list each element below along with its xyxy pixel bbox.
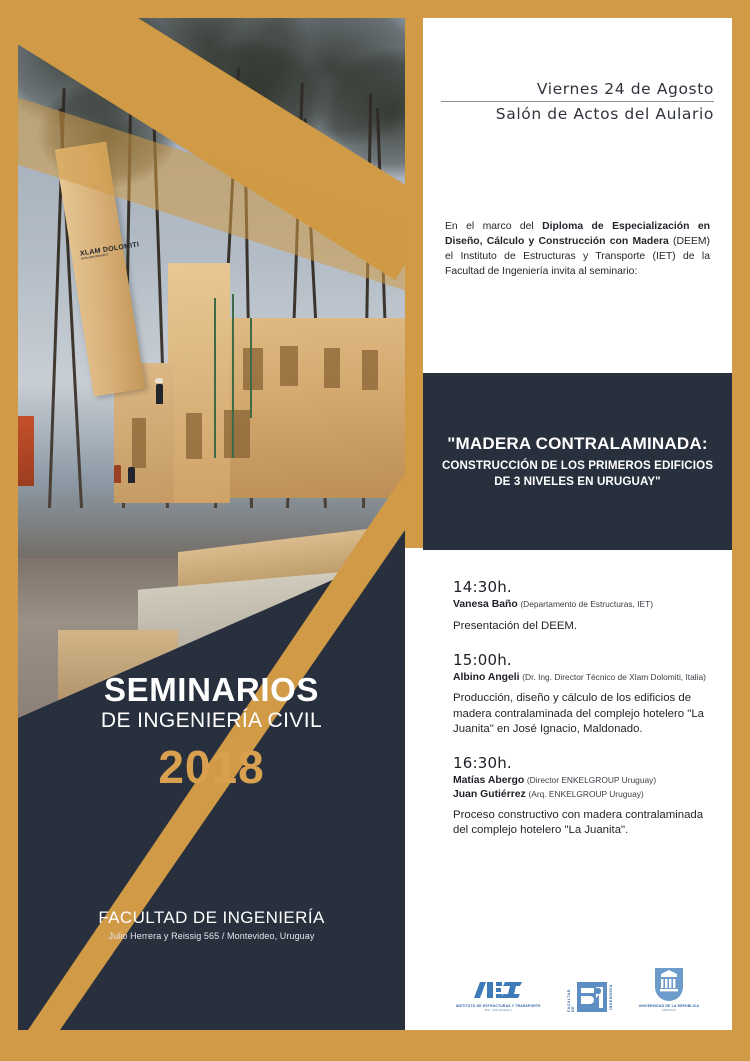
seminar-title-band: "MADERA CONTRALAMINADA: CONSTRUCCIÓN DE …	[423, 373, 732, 550]
speaker-name: Albino Angeli	[453, 672, 520, 683]
udelar-logo: UNIVERSIDAD DE LA REPÚBLICA URUGUAY	[639, 966, 699, 1012]
agenda-item: 15:00h. Albino Angeli (Dr. Ing. Director…	[453, 651, 706, 737]
faculty-name: FACULTAD DE INGENIERÍA	[18, 908, 405, 928]
wall-opening	[132, 418, 146, 468]
speaker-name: Juan Gutiérrez	[453, 789, 526, 800]
brand-year: 2018	[18, 744, 405, 790]
agenda-speaker: Vanesa Baño (Departamento de Estructuras…	[453, 598, 706, 612]
agenda-time: 16:30h.	[453, 754, 706, 772]
wall-opening	[362, 350, 378, 390]
fi-glyph-icon	[577, 982, 607, 1012]
agenda-time: 15:00h.	[453, 651, 706, 669]
speaker-name: Matías Abergo	[453, 775, 524, 786]
iet-logo: INSTITUTO DE ESTRUCTURAS Y TRANSPORTE Pr…	[456, 978, 541, 1012]
gold-vertical-strip	[405, 18, 423, 548]
agenda-speaker: Matías Abergo (Director ENKELGROUP Urugu…	[453, 774, 706, 788]
orange-equipment	[18, 416, 34, 486]
agenda-description: Presentación del DEEM.	[453, 619, 706, 634]
agenda-item: 16:30h. Matías Abergo (Director ENKELGRO…	[453, 754, 706, 839]
udelar-shield-icon	[653, 966, 685, 1002]
seminar-title-line1: "MADERA CONTRALAMINADA:	[437, 434, 718, 454]
agenda-description: Producción, diseño y cálculo de los edif…	[453, 691, 706, 737]
speaker-name: Vanesa Baño	[453, 599, 518, 610]
faculty-footer: FACULTAD DE INGENIERÍA Julio Herrera y R…	[18, 908, 405, 941]
left-column: XLAM DOLOMITI www.xlamdolomiti.it	[18, 18, 405, 1030]
wall-opening	[280, 346, 298, 386]
wall-opening	[243, 348, 263, 390]
seminar-title-line2: CONSTRUCCIÓN DE LOS PRIMEROS EDIFICIOS D…	[437, 458, 718, 489]
event-date-block: Viernes 24 de Agosto Salón de Actos del …	[423, 18, 732, 123]
worker-figure	[114, 465, 121, 483]
scaffold-pole	[232, 294, 234, 458]
institution-logos: INSTITUTO DE ESTRUCTURAS Y TRANSPORTE Pr…	[423, 966, 732, 1012]
speaker-role: (Dr. Ing. Director Técnico de Xlam Dolom…	[522, 672, 706, 682]
agenda-speaker: Albino Angeli (Dr. Ing. Director Técnico…	[453, 671, 706, 685]
iet-caption-sub: Prof. Julio Ricaldoni	[485, 1009, 512, 1012]
wall-opening	[224, 410, 250, 458]
right-column: Viernes 24 de Agosto Salón de Actos del …	[405, 18, 732, 1030]
wall-opening	[324, 348, 340, 388]
fi-vertical-text-1: FACULTAD DE	[567, 982, 575, 1012]
worker-figure	[128, 467, 135, 483]
brand-title-sub: DE INGENIERÍA CIVIL	[18, 708, 405, 734]
poster-canvas: XLAM DOLOMITI www.xlamdolomiti.it	[18, 18, 732, 1030]
worker-figure	[156, 384, 163, 404]
event-venue: Salón de Actos del Aulario	[423, 105, 714, 123]
event-date: Viernes 24 de Agosto	[423, 80, 714, 98]
speaker-role: (Departamento de Estructuras, IET)	[520, 599, 653, 609]
agenda-speaker: Juan Gutiérrez (Arq. ENKELGROUP Uruguay)	[453, 788, 706, 802]
scaffold-pole	[250, 318, 252, 418]
worker-helmet	[155, 378, 163, 383]
fi-vertical-text-2: INGENIERÍA	[609, 984, 613, 1010]
iet-caption: INSTITUTO DE ESTRUCTURAS Y TRANSPORTE	[456, 1004, 541, 1008]
iet-mark-icon	[470, 978, 526, 1002]
intro-part1: En el marco del	[445, 221, 542, 232]
construction-photo: XLAM DOLOMITI www.xlamdolomiti.it	[18, 18, 405, 718]
clt-core-wall	[168, 263, 230, 503]
udelar-caption: UNIVERSIDAD DE LA REPÚBLICA	[639, 1004, 699, 1008]
seminar-brand-title: SEMINARIOS DE INGENIERÍA CIVIL 2018	[18, 673, 405, 790]
agenda-description: Proceso constructivo con madera contrala…	[453, 808, 706, 839]
photo-backdrop: XLAM DOLOMITI www.xlamdolomiti.it	[18, 18, 405, 718]
brand-title-main: SEMINARIOS	[18, 673, 405, 706]
wall-opening	[186, 413, 202, 459]
speaker-role: (Arq. ENKELGROUP Uruguay)	[528, 789, 643, 799]
fi-mark-icon	[577, 982, 607, 1012]
agenda-list: 14:30h. Vanesa Baño (Departamento de Est…	[423, 578, 732, 856]
udelar-caption-sub: URUGUAY	[662, 1009, 676, 1012]
agenda-time: 14:30h.	[453, 578, 706, 596]
faculty-address: Julio Herrera y Reissig 565 / Montevideo…	[18, 931, 405, 941]
intro-paragraph: En el marco del Diploma de Especializaci…	[445, 219, 710, 279]
date-divider	[441, 101, 714, 102]
scaffold-pole	[214, 298, 216, 458]
agenda-item: 14:30h. Vanesa Baño (Departamento de Est…	[453, 578, 706, 634]
facultad-ingenieria-logo: FACULTAD DE INGENIE	[567, 982, 613, 1012]
speaker-role: (Director ENKELGROUP Uruguay)	[527, 775, 656, 785]
